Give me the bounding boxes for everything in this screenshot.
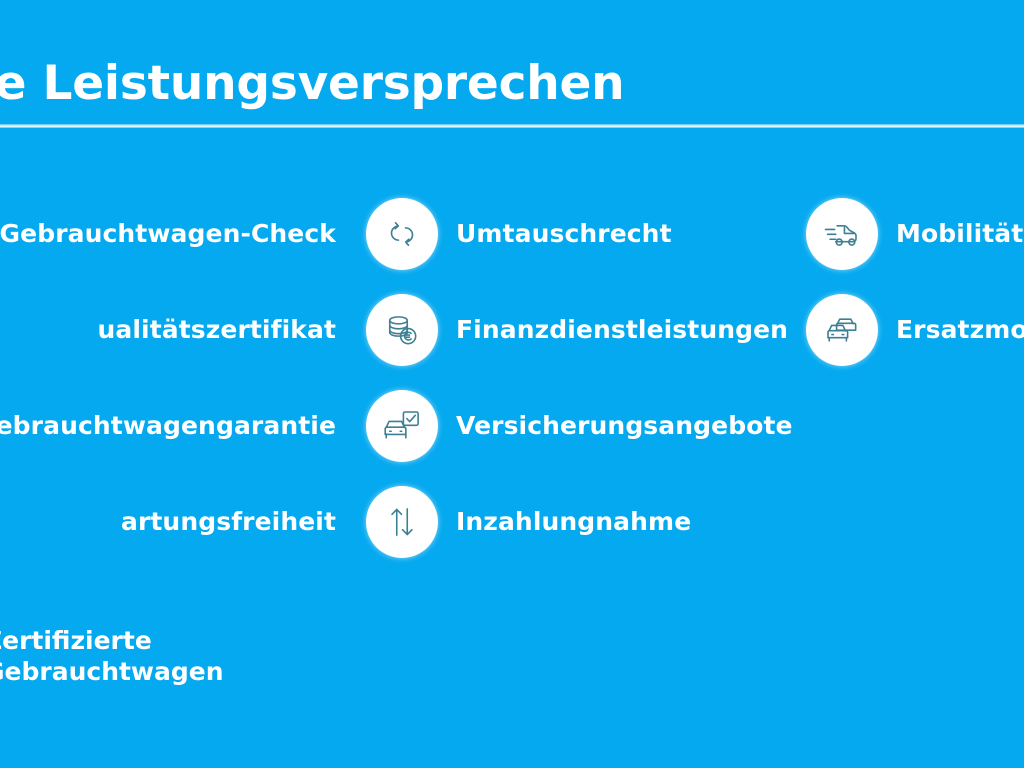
page-title: ere Leistungsversprechen: [0, 55, 1024, 113]
benefit-item[interactable]: ebrauchtwagengarantie: [0, 378, 336, 474]
car-checklist-icon: [366, 390, 438, 462]
benefit-item[interactable]: 60° Gebrauchtwagen-Check: [0, 186, 336, 282]
slide-root: ere Leistungsversprechen 60° Gebrauchtwa…: [0, 0, 1024, 768]
benefit-item[interactable]: ualitätszertifikat: [0, 282, 336, 378]
benefit-label: Umtauschrecht: [456, 219, 672, 249]
benefit-label: Ersatzmob: [896, 315, 1024, 345]
benefit-label: 60° Gebrauchtwagen-Check: [0, 219, 336, 249]
benefit-item[interactable]: Ersatzmob: [806, 282, 1024, 378]
two-cars-icon: [806, 294, 878, 366]
exchange-arrows-icon: [366, 198, 438, 270]
benefit-label: Inzahlungnahme: [456, 507, 691, 537]
benefits-column-left: 60° Gebrauchtwagen-Check ualitätszertifi…: [0, 186, 336, 570]
benefit-label: Finanzdienstleistungen: [456, 315, 788, 345]
benefit-label: Mobilitätsg: [896, 219, 1024, 249]
benefit-item[interactable]: Inzahlungnahme: [366, 474, 886, 570]
benefit-item[interactable]: artungsfreiheit: [0, 474, 336, 570]
moving-car-icon: [806, 198, 878, 270]
benefits-column-right: Mobilitätsg Ersatzmob: [806, 186, 1024, 378]
header-divider: [0, 124, 1024, 128]
benefit-label: Versicherungsangebote: [456, 411, 793, 441]
coins-euro-icon: [366, 294, 438, 366]
benefit-label: artungsfreiheit: [121, 507, 336, 537]
benefit-item[interactable]: Versicherungsangebote: [366, 378, 886, 474]
benefit-item[interactable]: Mobilitätsg: [806, 186, 1024, 282]
certified-used-cars-note: Zertifizierte Gebrauchtwagen: [0, 625, 404, 687]
benefit-label: ualitätszertifikat: [97, 315, 336, 345]
benefit-label: ebrauchtwagengarantie: [0, 411, 336, 441]
up-down-arrows-icon: [366, 486, 438, 558]
